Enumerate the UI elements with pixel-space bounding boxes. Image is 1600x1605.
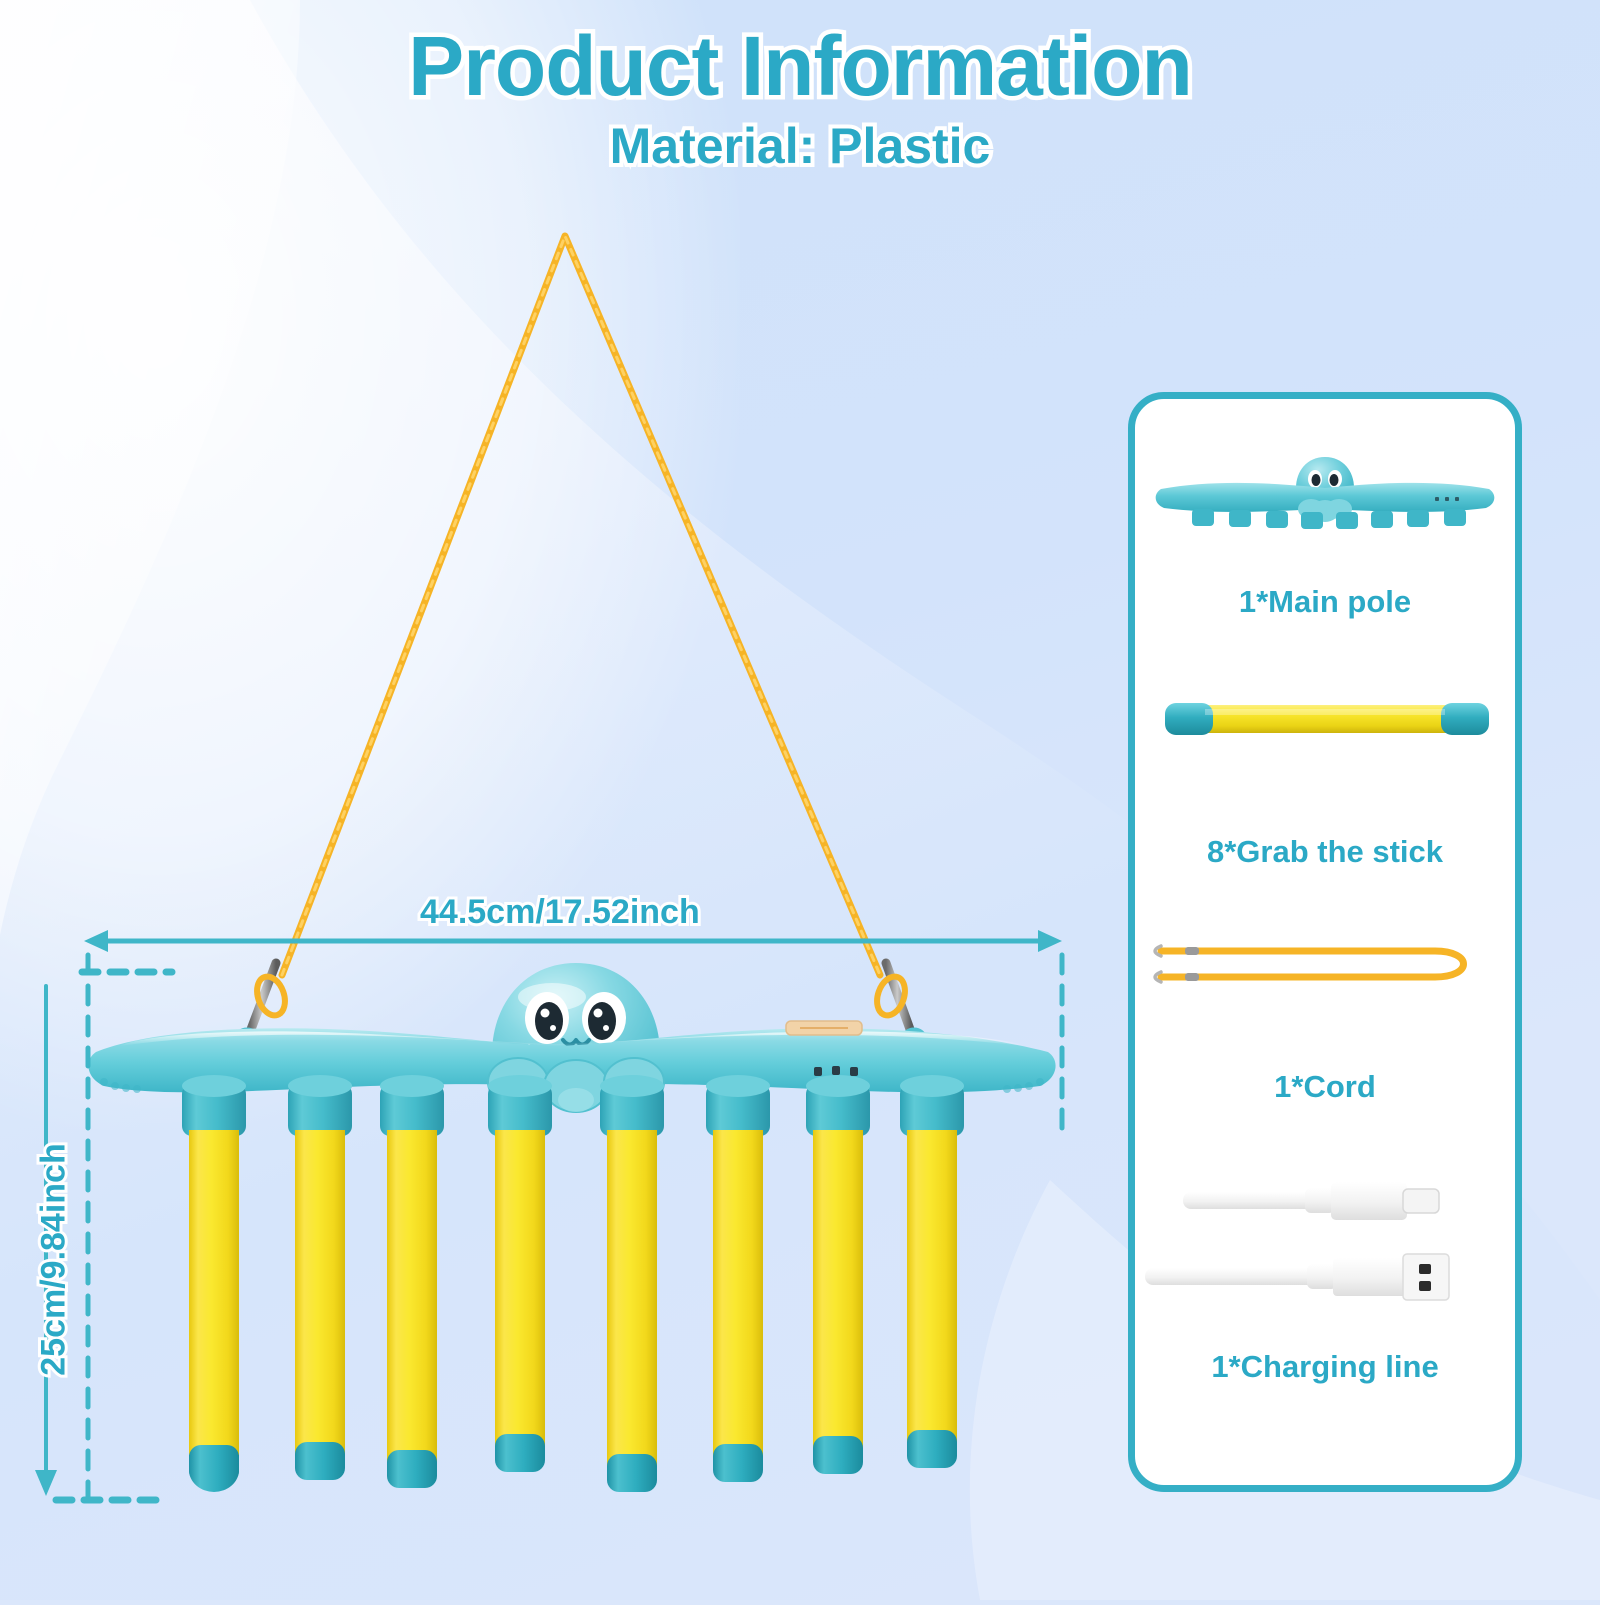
hanging-cord (282, 236, 880, 975)
part-label-charging-line: 1*Charging line (1135, 1349, 1515, 1385)
width-dimension-label: 44.5cm/17.52inch (420, 893, 700, 932)
grab-stick-thumbnail (1135, 689, 1515, 754)
charging-line-thumbnail (1135, 1164, 1515, 1329)
stick-group (182, 1075, 964, 1492)
part-label-main-pole: 1*Main pole (1135, 584, 1515, 620)
product-illustration: 44.5cm/17.52inch 25cm/9.84inch (0, 0, 1110, 1600)
height-dimension-label: 25cm/9.84inch (35, 1110, 74, 1410)
parts-list-panel: 1*Main pole (1128, 392, 1522, 1492)
indicator-dots (814, 1066, 858, 1076)
main-pole-thumbnail (1135, 431, 1515, 556)
part-label-grab-stick: 8*Grab the stick (1135, 834, 1515, 870)
product-svg (0, 0, 1110, 1600)
infographic-canvas: Product Information Material: Plastic (0, 0, 1600, 1600)
part-label-cord: 1*Cord (1135, 1069, 1515, 1105)
cord-thumbnail (1135, 929, 1515, 1004)
